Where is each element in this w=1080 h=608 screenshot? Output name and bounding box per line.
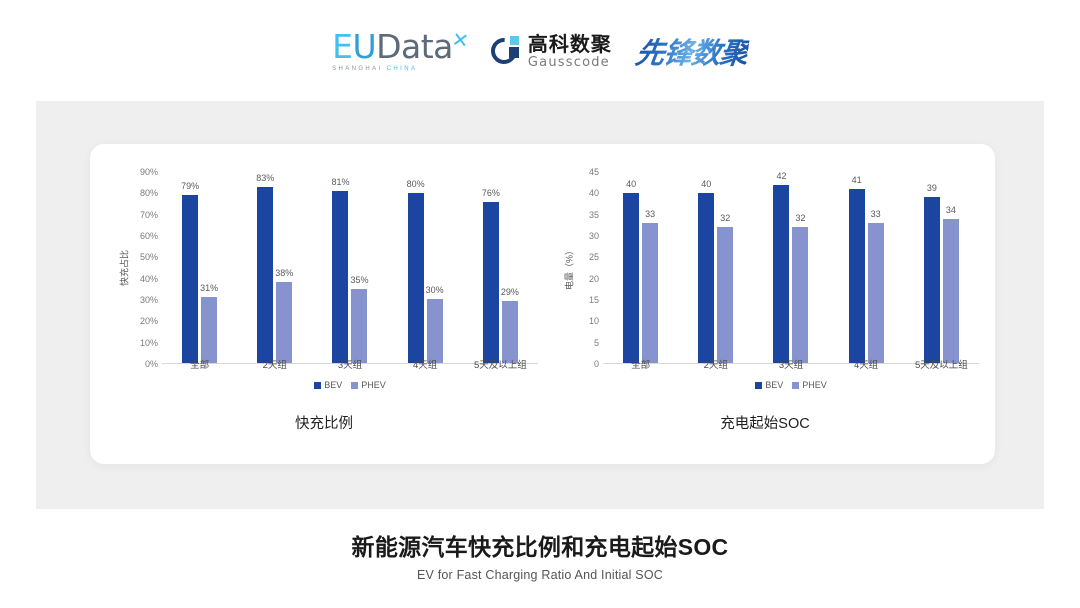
- bar-group: 83%38%: [242, 172, 308, 363]
- gausscode-text: 高科数聚 Gausscode: [528, 34, 612, 69]
- y-tick-label: 25: [589, 252, 599, 262]
- bar-value-label: 31%: [200, 283, 218, 293]
- evdata-wordmark: EUData: [332, 30, 453, 63]
- legend-item-bev: BEV: [314, 380, 342, 390]
- bar-group: 80%30%: [392, 172, 458, 363]
- bar-value-label: 76%: [482, 188, 500, 198]
- bar-group: 4033: [608, 172, 674, 363]
- bar-group: 4032: [683, 172, 749, 363]
- charts-card: 快充占比 90%80%70%60%50%40%30%20%10%0% 79%31…: [90, 144, 995, 464]
- bar-bev[interactable]: 41: [849, 189, 865, 363]
- y-tick-label: 80%: [140, 188, 158, 198]
- bar-bev[interactable]: 40: [698, 193, 714, 363]
- bar-value-label: 34: [946, 205, 956, 215]
- gausscode-dot-shape: [510, 36, 519, 45]
- bar-value-label: 42: [776, 171, 786, 181]
- bar-value-label: 81%: [331, 177, 349, 187]
- y-tick-label: 50%: [140, 252, 158, 262]
- evdata-x-icon: ✕: [450, 27, 470, 54]
- y-tick-label: 10: [589, 316, 599, 326]
- page-subtitle: EV for Fast Charging Ratio And Initial S…: [0, 568, 1080, 582]
- bar-phev[interactable]: 38%: [276, 282, 292, 363]
- bar-bev[interactable]: 80%: [408, 193, 424, 363]
- legend-swatch-bev-icon: [314, 382, 321, 389]
- legend-swatch-phev-icon: [792, 382, 799, 389]
- legend-label-phev: PHEV: [361, 380, 386, 390]
- legend-item-phev: PHEV: [351, 380, 386, 390]
- bar-value-label: 41: [852, 175, 862, 185]
- bar-phev[interactable]: 35%: [351, 289, 367, 363]
- gausscode-square-shape: [509, 47, 519, 58]
- y-tick-label: 20%: [140, 316, 158, 326]
- y-tick-label: 40: [589, 188, 599, 198]
- chart-initial-soc: 电量（%） 454035302520151050 403340324232413…: [545, 162, 985, 447]
- chart-right-bar-groups: 40334032423241333934: [603, 172, 979, 363]
- y-tick-label: 30%: [140, 295, 158, 305]
- bar-bev[interactable]: 83%: [257, 187, 273, 363]
- bar-value-label: 39: [927, 183, 937, 193]
- chart-fast-charging-ratio: 快充占比 90%80%70%60%50%40%30%20%10%0% 79%31…: [104, 162, 544, 447]
- bar-group: 3934: [908, 172, 974, 363]
- legend-swatch-bev-icon: [755, 382, 762, 389]
- bar-value-label: 33: [871, 209, 881, 219]
- chart-left-y-ticks: 90%80%70%60%50%40%30%20%10%0%: [122, 172, 162, 364]
- chart-right-plot: 40334032423241333934: [603, 172, 979, 364]
- chart-right-y-ticks: 454035302520151050: [563, 172, 603, 364]
- y-tick-label: 45: [589, 167, 599, 177]
- legend-item-bev: BEV: [755, 380, 783, 390]
- legend-swatch-phev-icon: [351, 382, 358, 389]
- category-label: 4天组: [833, 357, 899, 373]
- y-tick-label: 70%: [140, 210, 158, 220]
- chart-right-category-labels: 全部2天组3天组4天组5天及以上组: [603, 357, 979, 373]
- bar-value-label: 40: [701, 179, 711, 189]
- gausscode-name-en: Gausscode: [528, 56, 612, 69]
- category-label: 2天组: [242, 357, 308, 373]
- bar-phev[interactable]: 32: [717, 227, 733, 363]
- gausscode-mark-icon: [491, 36, 521, 66]
- xianfeng-logo: 先锋数聚: [636, 30, 748, 72]
- bar-value-label: 35%: [350, 275, 368, 285]
- chart-left-category-labels: 全部2天组3天组4天组5天及以上组: [162, 357, 538, 373]
- category-label: 全部: [167, 357, 233, 373]
- legend-label-phev: PHEV: [802, 380, 827, 390]
- y-tick-label: 0: [594, 359, 599, 369]
- chart-left-plot: 79%31%83%38%81%35%80%30%76%29%: [162, 172, 538, 364]
- logo-bar: EUData ✕ SHANGHAI CHINA 高科数聚 Gausscode 先…: [0, 22, 1080, 80]
- bar-phev[interactable]: 34: [943, 219, 959, 363]
- bar-value-label: 32: [795, 213, 805, 223]
- bar-value-label: 40: [626, 179, 636, 189]
- chart-left-legend: BEV PHEV: [162, 378, 538, 392]
- y-tick-label: 60%: [140, 231, 158, 241]
- chart-right-legend: BEV PHEV: [603, 378, 979, 392]
- legend-label-bev: BEV: [765, 380, 783, 390]
- bar-group: 4232: [758, 172, 824, 363]
- bar-bev[interactable]: 81%: [332, 191, 348, 363]
- legend-label-bev: BEV: [324, 380, 342, 390]
- gausscode-name-cn: 高科数聚: [528, 34, 612, 54]
- y-tick-label: 0%: [145, 359, 158, 369]
- evdata-tagline-china: CHINA: [387, 66, 418, 72]
- bar-value-label: 83%: [256, 173, 274, 183]
- category-label: 5天及以上组: [908, 357, 974, 373]
- bar-bev[interactable]: 42: [773, 185, 789, 363]
- bar-group: 4133: [833, 172, 899, 363]
- bar-bev[interactable]: 39: [924, 197, 940, 363]
- evdata-letter-e: E: [332, 27, 352, 66]
- evdata-logo: EUData ✕ SHANGHAI CHINA: [332, 30, 467, 72]
- evdata-tagline-shanghai: SHANGHAI: [332, 66, 383, 72]
- bar-bev[interactable]: 40: [623, 193, 639, 363]
- y-tick-label: 90%: [140, 167, 158, 177]
- category-label: 5天及以上组: [467, 357, 533, 373]
- legend-item-phev: PHEV: [792, 380, 827, 390]
- evdata-tagline: SHANGHAI CHINA: [332, 66, 417, 72]
- chart-left-plot-area: 快充占比 90%80%70%60%50%40%30%20%10%0% 79%31…: [104, 172, 544, 364]
- y-tick-label: 15: [589, 295, 599, 305]
- evdata-letter-v: U: [352, 27, 376, 66]
- bar-value-label: 38%: [275, 268, 293, 278]
- y-tick-label: 20: [589, 274, 599, 284]
- bar-phev[interactable]: 30%: [427, 299, 443, 363]
- bar-group: 79%31%: [167, 172, 233, 363]
- bar-value-label: 33: [645, 209, 655, 219]
- chart-right-caption: 充电起始SOC: [545, 412, 985, 433]
- xianfeng-wordmark: 先锋数聚: [633, 30, 751, 72]
- bar-phev[interactable]: 33: [868, 223, 884, 363]
- bar-phev[interactable]: 33: [642, 223, 658, 363]
- y-tick-label: 5: [594, 338, 599, 348]
- bar-value-label: 29%: [501, 287, 519, 297]
- chart-left-caption: 快充比例: [104, 412, 544, 433]
- bar-phev[interactable]: 32: [792, 227, 808, 363]
- y-tick-label: 40%: [140, 274, 158, 284]
- category-label: 2天组: [683, 357, 749, 373]
- page-title: 新能源汽车快充比例和充电起始SOC: [0, 528, 1080, 562]
- y-tick-label: 30: [589, 231, 599, 241]
- bar-value-label: 30%: [426, 285, 444, 295]
- category-label: 全部: [608, 357, 674, 373]
- bar-value-label: 80%: [407, 179, 425, 189]
- bar-bev[interactable]: 79%: [182, 195, 198, 363]
- bar-value-label: 79%: [181, 181, 199, 191]
- chart-left-bar-groups: 79%31%83%38%81%35%80%30%76%29%: [162, 172, 538, 363]
- y-tick-label: 35: [589, 210, 599, 220]
- gausscode-logo: 高科数聚 Gausscode: [491, 34, 612, 69]
- bar-phev[interactable]: 31%: [201, 297, 217, 363]
- chart-right-plot-area: 电量（%） 454035302520151050 403340324232413…: [545, 172, 985, 364]
- bar-phev[interactable]: 29%: [502, 301, 518, 363]
- bar-value-label: 32: [720, 213, 730, 223]
- footer: 新能源汽车快充比例和充电起始SOC EV for Fast Charging R…: [0, 528, 1080, 582]
- bar-bev[interactable]: 76%: [483, 202, 499, 363]
- evdata-letters-data: Data: [376, 27, 453, 66]
- category-label: 3天组: [758, 357, 824, 373]
- bar-group: 81%35%: [317, 172, 383, 363]
- category-label: 4天组: [392, 357, 458, 373]
- category-label: 3天组: [317, 357, 383, 373]
- bar-group: 76%29%: [467, 172, 533, 363]
- y-tick-label: 10%: [140, 338, 158, 348]
